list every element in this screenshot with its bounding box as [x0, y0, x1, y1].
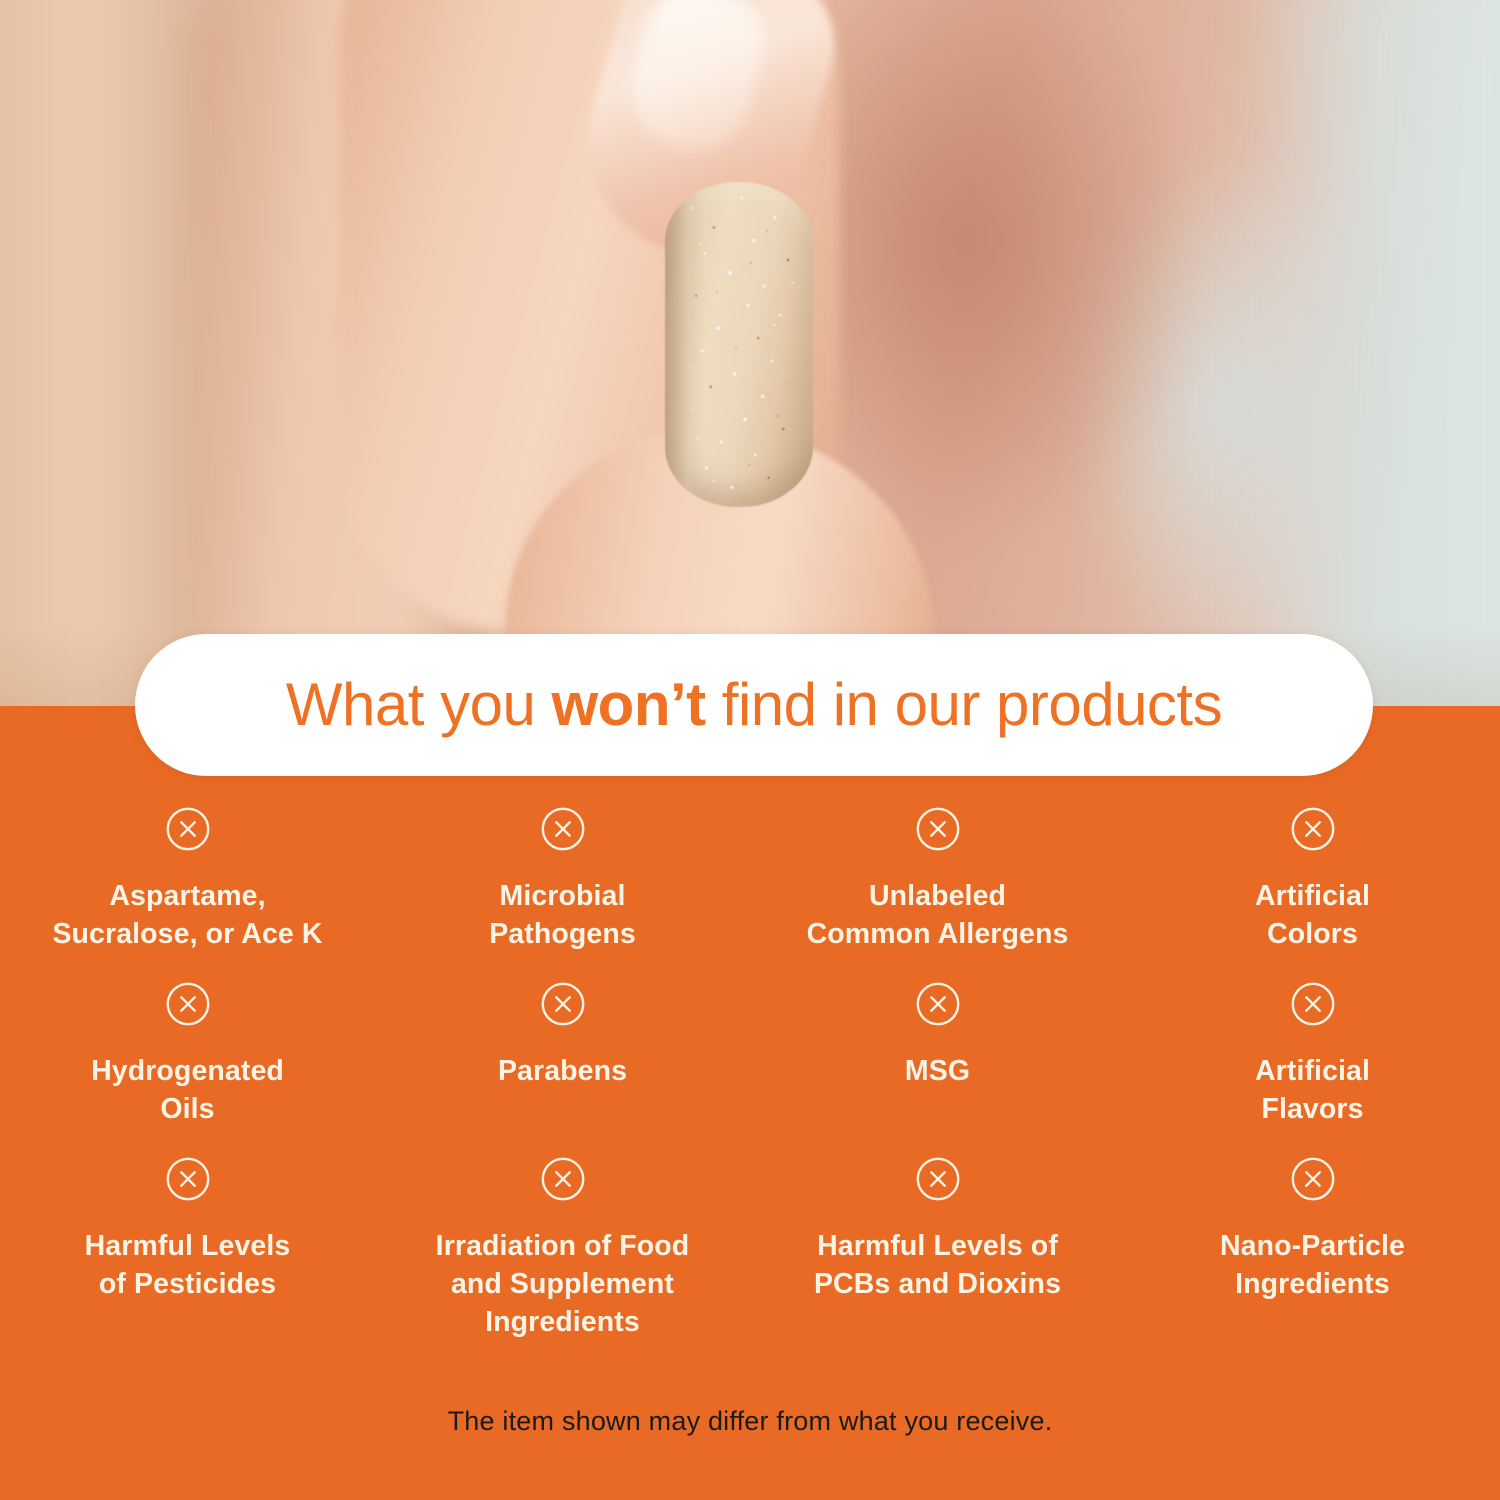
circle-x-icon [915, 981, 961, 1027]
excluded-ingredient-label: Parabens [498, 1053, 627, 1091]
excluded-ingredient-label: Irradiation of Food and Supplement Ingre… [436, 1228, 690, 1342]
excluded-ingredient-item-4: Hydrogenated Oils [0, 981, 375, 1156]
circle-x-icon [915, 806, 961, 852]
circle-x-icon [165, 806, 211, 852]
excluded-ingredient-label: Artificial Colors [1255, 878, 1370, 954]
circle-x-icon [1290, 1156, 1336, 1202]
excluded-ingredient-item-6: MSG [750, 981, 1125, 1156]
excluded-ingredients-grid: Aspartame, Sucralose, or Ace K Microbial… [0, 806, 1500, 1331]
excluded-ingredient-label: Harmful Levels of Pesticides [85, 1228, 291, 1304]
excluded-ingredient-label: Aspartame, Sucralose, or Ace K [52, 878, 322, 954]
excluded-ingredient-label: Nano-Particle Ingredients [1220, 1228, 1405, 1304]
circle-x-icon [540, 1156, 586, 1202]
excluded-ingredient-item-8: Harmful Levels of Pesticides [0, 1156, 375, 1331]
hero-photo [0, 0, 1500, 706]
circle-x-icon [1290, 981, 1336, 1027]
circle-x-icon [1290, 806, 1336, 852]
excluded-ingredient-item-10: Harmful Levels of PCBs and Dioxins [750, 1156, 1125, 1331]
circle-x-icon [165, 981, 211, 1027]
page-title: What you won’t find in our products [286, 675, 1222, 735]
circle-x-icon [165, 1156, 211, 1202]
circle-x-icon [540, 981, 586, 1027]
title-card: What you won’t find in our products [135, 634, 1373, 776]
excluded-ingredient-item-11: Nano-Particle Ingredients [1125, 1156, 1500, 1331]
excluded-ingredient-label: Artificial Flavors [1255, 1053, 1370, 1129]
title-suffix: find in our products [706, 671, 1222, 738]
product-claims-infographic: What you won’t find in our products Aspa… [0, 0, 1500, 1500]
title-emphasis: won’t [552, 671, 706, 738]
excluded-ingredient-item-5: Parabens [375, 981, 750, 1156]
circle-x-icon [915, 1156, 961, 1202]
excluded-ingredient-label: Unlabeled Common Allergens [807, 878, 1069, 954]
excluded-ingredient-item-3: Artificial Colors [1125, 806, 1500, 981]
photo-teal-highlight [1240, 0, 1500, 706]
title-prefix: What you [286, 671, 552, 738]
excluded-ingredient-label: Harmful Levels of PCBs and Dioxins [814, 1228, 1061, 1304]
excluded-ingredient-item-9: Irradiation of Food and Supplement Ingre… [375, 1156, 750, 1331]
circle-x-icon [540, 806, 586, 852]
excluded-ingredient-item-2: Unlabeled Common Allergens [750, 806, 1125, 981]
excluded-ingredient-item-7: Artificial Flavors [1125, 981, 1500, 1156]
excluded-ingredient-label: MSG [905, 1053, 970, 1091]
excluded-ingredient-item-1: Microbial Pathogens [375, 806, 750, 981]
disclaimer-note: The item shown may differ from what you … [0, 1406, 1500, 1437]
excluded-ingredient-item-0: Aspartame, Sucralose, or Ace K [0, 806, 375, 981]
excluded-ingredient-label: Microbial Pathogens [489, 878, 636, 954]
tablet-bevel-edge [665, 190, 705, 498]
excluded-ingredient-label: Hydrogenated Oils [91, 1053, 284, 1129]
supplement-tablet [665, 182, 813, 507]
